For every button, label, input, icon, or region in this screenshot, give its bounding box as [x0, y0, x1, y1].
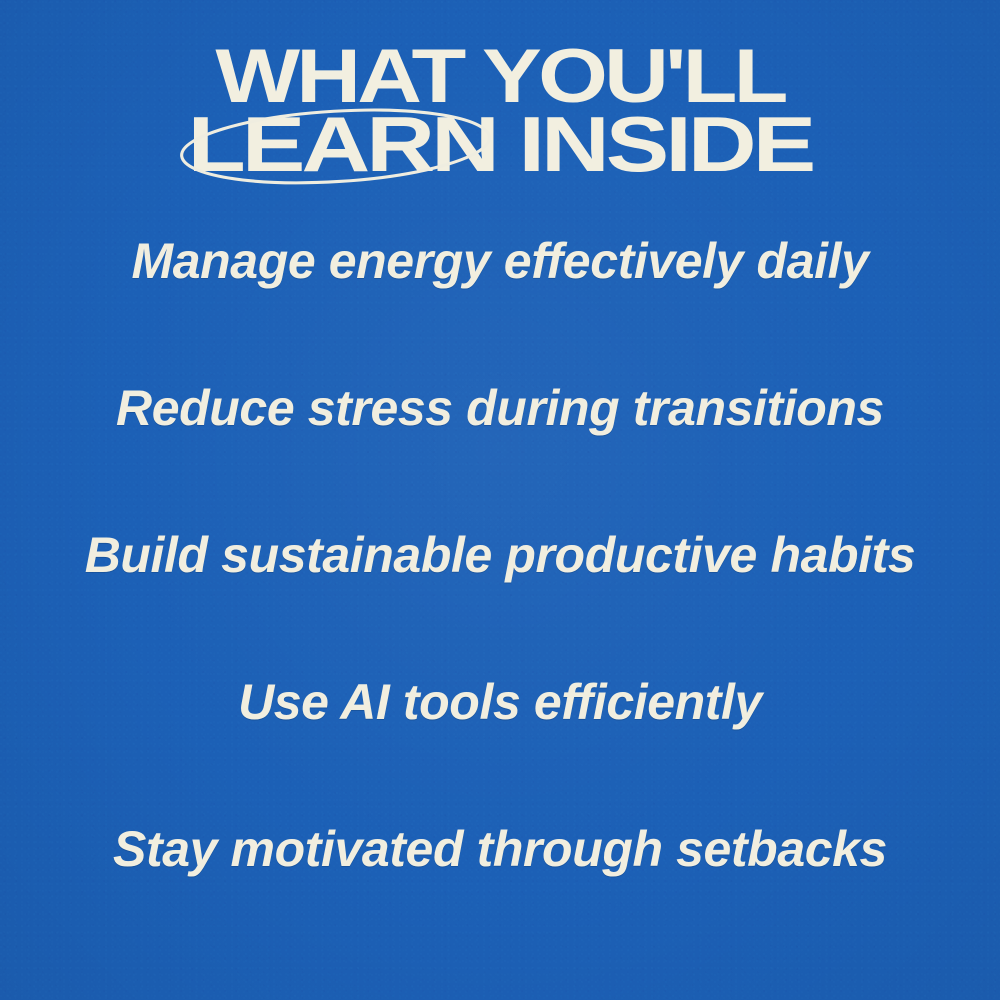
list-item: Stay motivated through setbacks	[0, 824, 1000, 874]
poster-canvas: WHAT YOU'LL LEARN INSIDE Manage energy e…	[0, 0, 1000, 1000]
list-item: Reduce stress during transitions	[0, 383, 1000, 433]
learning-points-list: Manage energy effectively daily Reduce s…	[0, 236, 1000, 874]
list-item: Build sustainable productive habits	[0, 530, 1000, 580]
page-title: WHAT YOU'LL LEARN INSIDE	[0, 44, 1000, 178]
list-item: Use AI tools efficiently	[0, 677, 1000, 727]
headline-line-2: LEARN INSIDE	[0, 111, 1000, 178]
list-item: Manage energy effectively daily	[0, 236, 1000, 286]
